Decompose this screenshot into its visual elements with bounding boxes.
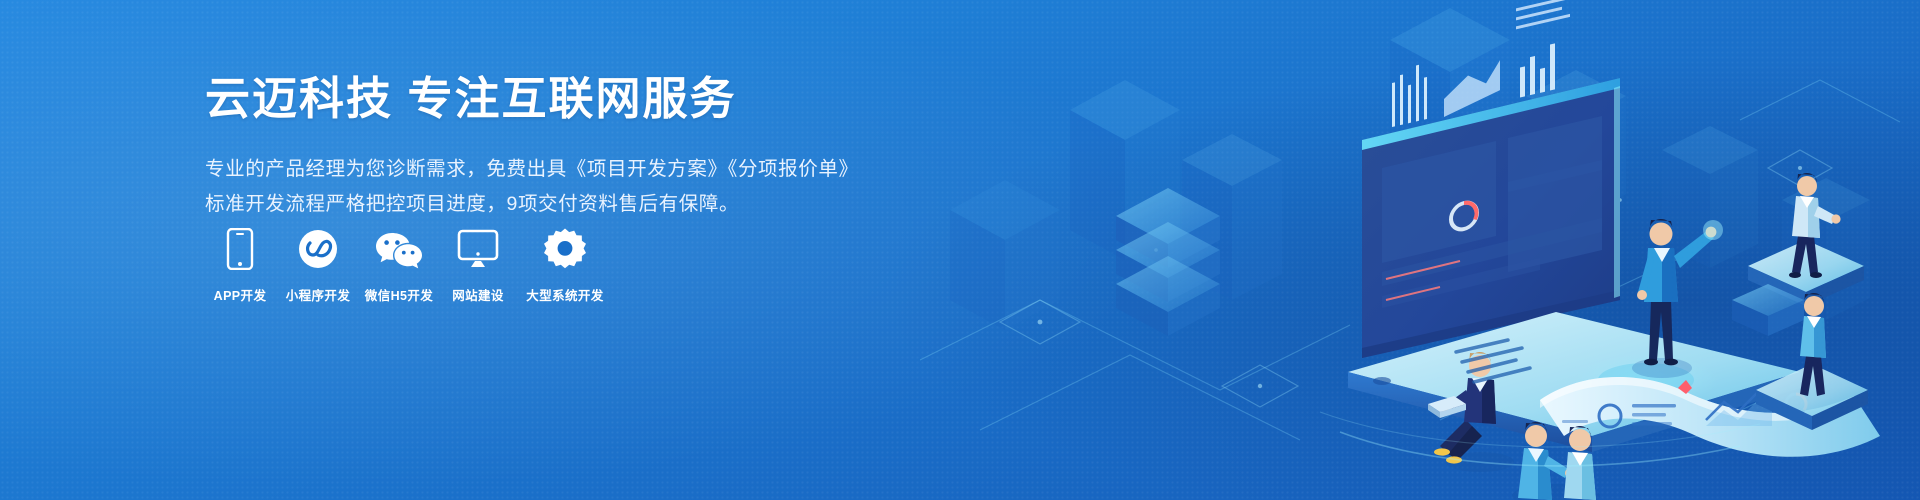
- mini-program-icon: [298, 228, 338, 270]
- hero-illustration: [920, 0, 1920, 500]
- subcopy-line-2: 标准开发流程严格把控项目进度，9项交付资料售后有保障。: [205, 187, 925, 222]
- wechat-icon: [375, 228, 423, 270]
- service-label: 小程序开发: [286, 285, 351, 304]
- server-stack: [1116, 188, 1220, 336]
- monitor-icon: [457, 228, 499, 270]
- mobile-phone-icon: [226, 228, 254, 270]
- service-item-miniprogram[interactable]: 小程序开发: [279, 228, 357, 304]
- service-item-website[interactable]: 网站建设: [441, 228, 515, 304]
- service-label: 网站建设: [452, 285, 504, 304]
- service-icon-row: APP开发 小程序开发 微信: [203, 228, 615, 304]
- hero-content: 云迈科技 专注互联网服务 专业的产品经理为您诊断需求，免费出具《项目开发方案》《…: [205, 72, 925, 222]
- service-label: 大型系统开发: [526, 285, 603, 304]
- service-item-app[interactable]: APP开发: [203, 228, 277, 304]
- hero-banner: 云迈科技 专注互联网服务 专业的产品经理为您诊断需求，免费出具《项目开发方案》《…: [0, 0, 1920, 500]
- gear-icon: [544, 228, 586, 270]
- service-label: 微信H5开发: [365, 285, 433, 304]
- hero-subcopy: 专业的产品经理为您诊断需求，免费出具《项目开发方案》《分项报价单》 标准开发流程…: [205, 152, 925, 222]
- subcopy-line-1: 专业的产品经理为您诊断需求，免费出具《项目开发方案》《分项报价单》: [205, 152, 925, 187]
- service-item-large-system[interactable]: 大型系统开发: [517, 228, 613, 304]
- page-title: 云迈科技 专注互联网服务: [205, 72, 925, 125]
- service-label: APP开发: [214, 285, 267, 304]
- service-item-wechat-h5[interactable]: 微信H5开发: [359, 228, 439, 304]
